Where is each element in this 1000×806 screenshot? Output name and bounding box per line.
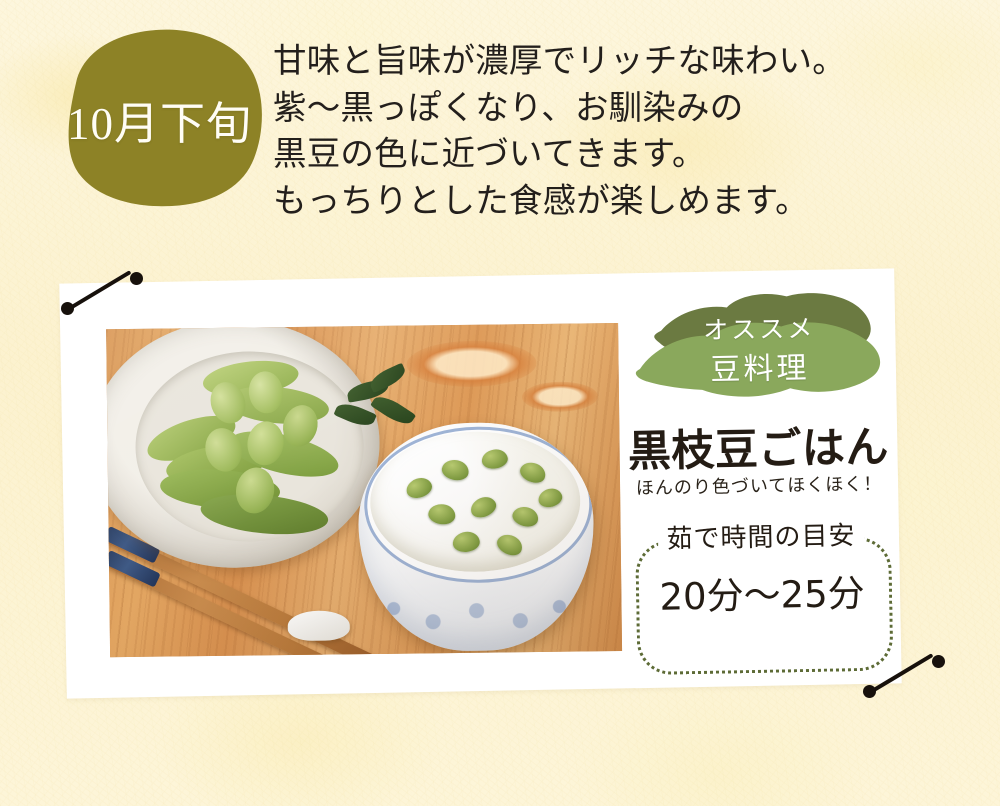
recommended-pod-badge: オススメ 豆料理 bbox=[631, 287, 889, 404]
pod-badge-line-2: 豆料理 bbox=[632, 342, 889, 391]
season-description: 甘味と旨味が濃厚でリッチな味わい。 紫〜黒っぽくなり、お馴染みの 黒豆の色に近づ… bbox=[273, 38, 973, 224]
deco-line bbox=[868, 653, 933, 695]
boil-time-value: 20分〜25分 bbox=[636, 563, 889, 622]
boil-time-label: 茹で時間の目安 bbox=[658, 515, 864, 556]
season-badge-label: 10月下旬 bbox=[52, 25, 267, 207]
boil-time-label-wrap: 茹で時間の目安 bbox=[635, 515, 888, 557]
rice-edamame-bean bbox=[536, 486, 564, 510]
description-line-4: もっちりとした食感が楽しめます。 bbox=[273, 178, 973, 225]
description-line-3: 黒豆の色に近づいてきます。 bbox=[273, 131, 973, 178]
description-line-1: 甘味と旨味が濃厚でリッチな味わい。 bbox=[273, 38, 973, 85]
corner-decoration-bottom-right bbox=[855, 645, 965, 715]
rice-edamame-bean bbox=[427, 503, 456, 526]
rice-edamame-bean bbox=[452, 530, 481, 553]
dish-subtitle: ほんのり色づいてほくほく！ bbox=[628, 469, 890, 500]
corner-decoration-top-left bbox=[58, 278, 168, 348]
deco-dot bbox=[61, 302, 74, 315]
description-line-2: 紫〜黒っぽくなり、お馴染みの bbox=[273, 85, 973, 132]
deco-dot bbox=[863, 685, 876, 698]
deco-dot bbox=[130, 272, 143, 285]
season-badge: 10月下旬 bbox=[52, 25, 267, 207]
rice-edamame-bean bbox=[404, 475, 435, 501]
rice-edamame-bean bbox=[517, 459, 548, 486]
boil-time-block: 茹で時間の目安 20分〜25分 bbox=[635, 515, 890, 672]
rice-edamame-bean bbox=[480, 448, 509, 471]
rice-edamame-bean bbox=[468, 493, 499, 521]
rice-bowl bbox=[357, 421, 595, 652]
rice-edamame-bean bbox=[494, 531, 526, 559]
black-edamame-rice-photo bbox=[106, 323, 622, 657]
deco-dot bbox=[932, 655, 945, 668]
recipe-info-column: オススメ 豆料理 黒枝豆ごはん ほんのり色づいてほくほく！ 茹で時間の目安 20… bbox=[624, 285, 891, 680]
leaf bbox=[370, 391, 416, 429]
rice-edamame-bean bbox=[510, 504, 540, 529]
season-description-section: 10月下旬 甘味と旨味が濃厚でリッチな味わい。 紫〜黒っぽくなり、お馴染みの 黒… bbox=[0, 0, 1000, 255]
recipe-card: オススメ 豆料理 黒枝豆ごはん ほんのり色づいてほくほく！ 茹で時間の目安 20… bbox=[59, 268, 901, 698]
rice-edamame-bean bbox=[440, 458, 470, 483]
chopstick-rest bbox=[288, 610, 350, 641]
